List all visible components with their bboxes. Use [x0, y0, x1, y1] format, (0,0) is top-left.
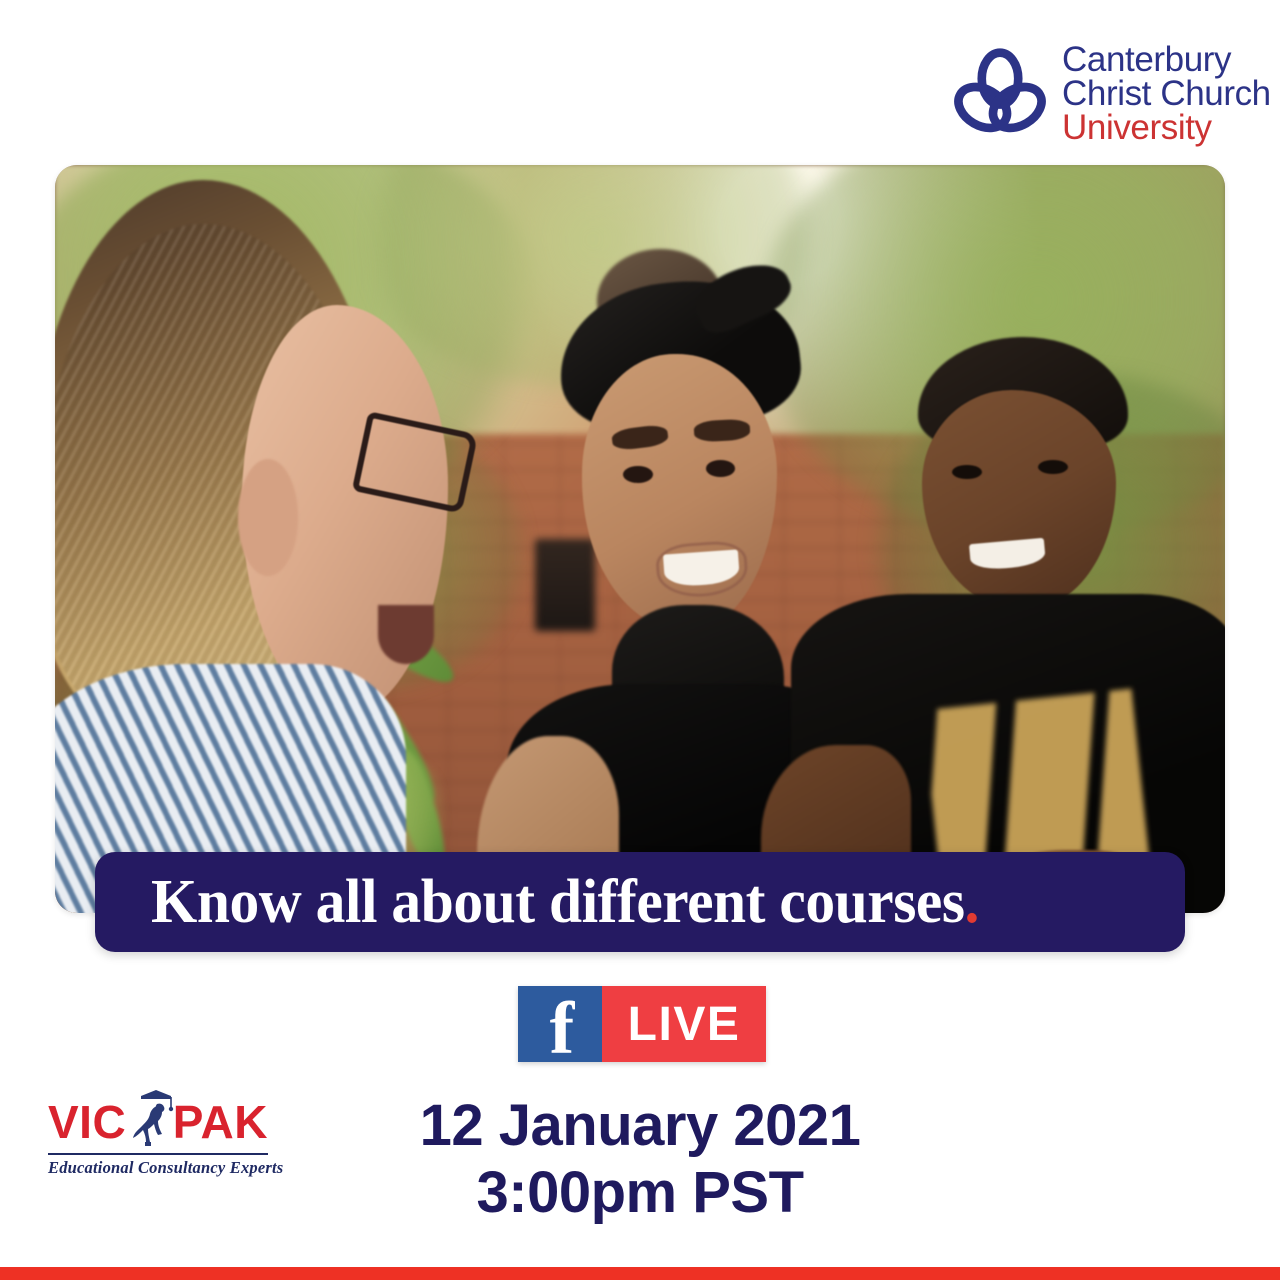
- event-poster: Canterbury Christ Church University: [0, 0, 1280, 1280]
- university-logo: Canterbury Christ Church University: [952, 38, 1232, 150]
- headline-copy: Know all about different courses: [151, 868, 965, 936]
- facebook-f-glyph: f: [550, 998, 575, 1062]
- headline-text: Know all about different courses.: [151, 867, 979, 938]
- event-datetime: 12 January 2021 3:00pm PST: [0, 1092, 1280, 1227]
- live-label: LIVE: [628, 997, 741, 1052]
- event-time: 3:00pm PST: [0, 1159, 1280, 1226]
- facebook-live-badge[interactable]: f LIVE: [518, 986, 766, 1062]
- hero-photo: [55, 165, 1225, 913]
- headline-banner: Know all about different courses.: [95, 852, 1185, 952]
- university-name-line-3: University: [1062, 111, 1271, 145]
- event-date: 12 January 2021: [0, 1092, 1280, 1159]
- headline-period: .: [965, 868, 979, 936]
- student-left-woman-with-glasses: [55, 180, 500, 913]
- university-name-line-2: Christ Church: [1062, 77, 1271, 111]
- student-right-man-black-tshirt: [851, 337, 1225, 913]
- live-label-box[interactable]: LIVE: [602, 986, 766, 1062]
- university-name-line-1: Canterbury: [1062, 43, 1271, 77]
- footer-accent-bar: [0, 1267, 1280, 1280]
- facebook-icon[interactable]: f: [518, 986, 602, 1062]
- trefoil-knot-icon: [952, 46, 1048, 142]
